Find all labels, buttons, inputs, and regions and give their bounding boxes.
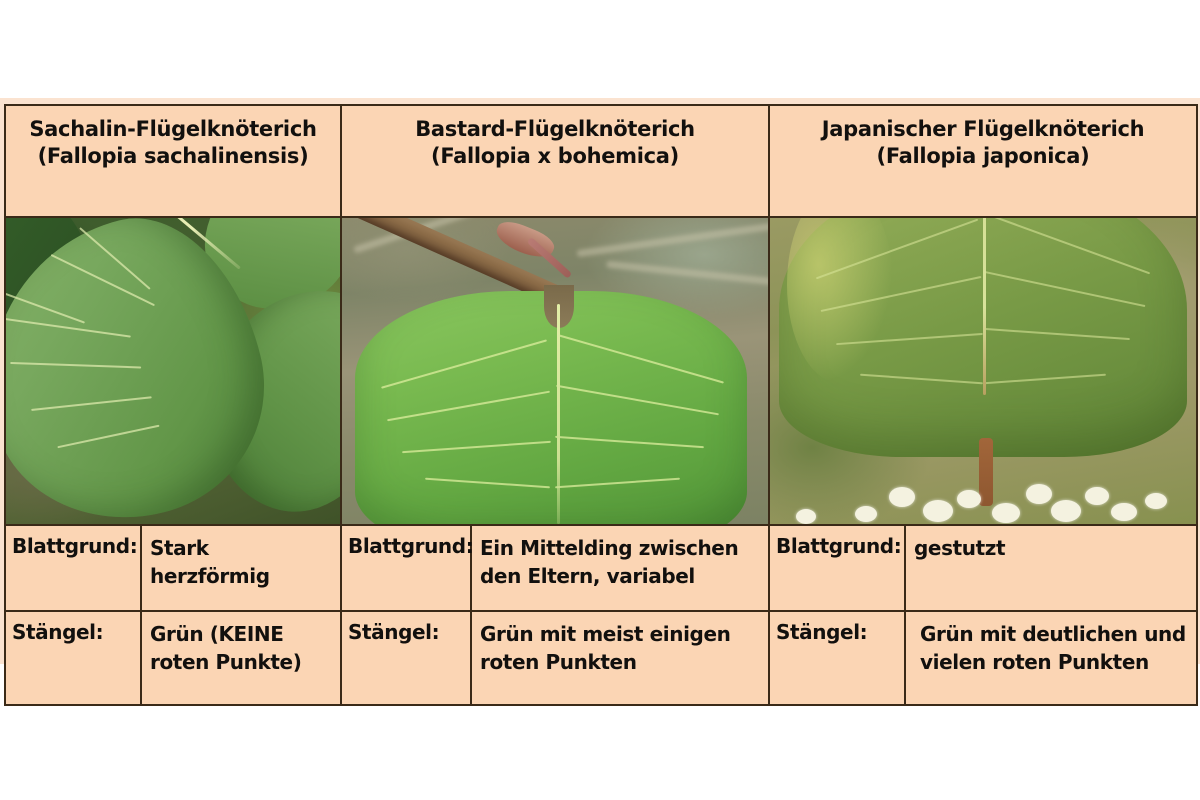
species-common-name: Sachalin-Flügelknöterich: [6, 116, 340, 143]
species-header-bohemica: Bastard-Flügelknöterich (Fallopia x bohe…: [341, 105, 769, 217]
leaf-shape-main: [355, 291, 747, 524]
bastard-leaf-photo: [342, 218, 768, 524]
fact-row-blattgrund: Blattgrund: Stark herzförmig Blattgrund:…: [5, 525, 1197, 611]
species-common-name: Bastard-Flügelknöterich: [342, 116, 768, 143]
leaf-shape-main: [779, 218, 1188, 457]
leaf-midrib: [557, 304, 560, 524]
species-header-sachalinensis: Sachalin-Flügelknöterich (Fallopia sacha…: [5, 105, 341, 217]
fact-label-blattgrund-bohemica: Blattgrund:: [341, 525, 471, 611]
japanischer-leaf-photo: [770, 218, 1196, 524]
species-scientific-name: (Fallopia x bohemica): [342, 143, 768, 170]
plant-stem: [979, 438, 993, 505]
species-scientific-name: (Fallopia japonica): [770, 143, 1196, 170]
photo-cell-bohemica: [341, 217, 769, 525]
fact-label-staengel-sachalinensis: Stängel:: [5, 611, 141, 705]
species-header-japonica: Japanischer Flügelknöterich (Fallopia ja…: [769, 105, 1197, 217]
species-scientific-name: (Fallopia sachalinensis): [6, 143, 340, 170]
fact-row-staengel: Stängel: Grün (KEINE roten Punkte) Stäng…: [5, 611, 1197, 705]
fact-value-staengel-bohemica: Grün mit meist einigen roten Punkten: [471, 611, 769, 705]
photo-cell-sachalinensis: [5, 217, 341, 525]
fact-value-staengel-japonica: Grün mit deutlichen und vielen roten Pun…: [905, 611, 1197, 705]
sachalin-leaf-photo: [6, 218, 340, 524]
table-photo-row: [5, 217, 1197, 525]
fact-value-blattgrund-sachalinensis: Stark herzförmig: [141, 525, 341, 611]
fact-value-blattgrund-japonica: gestutzt: [905, 525, 1197, 611]
species-common-name: Japanischer Flügelknöterich: [770, 116, 1196, 143]
leaf-midrib: [983, 218, 986, 395]
page-root: Sachalin-Flügelknöterich (Fallopia sacha…: [0, 0, 1200, 800]
leaf-highlight: [787, 218, 893, 383]
fact-label-blattgrund-sachalinensis: Blattgrund:: [5, 525, 141, 611]
fact-label-staengel-bohemica: Stängel:: [341, 611, 471, 705]
table-header-row: Sachalin-Flügelknöterich (Fallopia sacha…: [5, 105, 1197, 217]
photo-cell-japonica: [769, 217, 1197, 525]
fact-label-staengel-japonica: Stängel:: [769, 611, 905, 705]
fact-label-blattgrund-japonica: Blattgrund:: [769, 525, 905, 611]
fact-value-staengel-sachalinensis: Grün (KEINE roten Punkte): [141, 611, 341, 705]
species-comparison-table: Sachalin-Flügelknöterich (Fallopia sacha…: [4, 104, 1198, 706]
fact-value-blattgrund-bohemica: Ein Mittelding zwischen den Eltern, vari…: [471, 525, 769, 611]
